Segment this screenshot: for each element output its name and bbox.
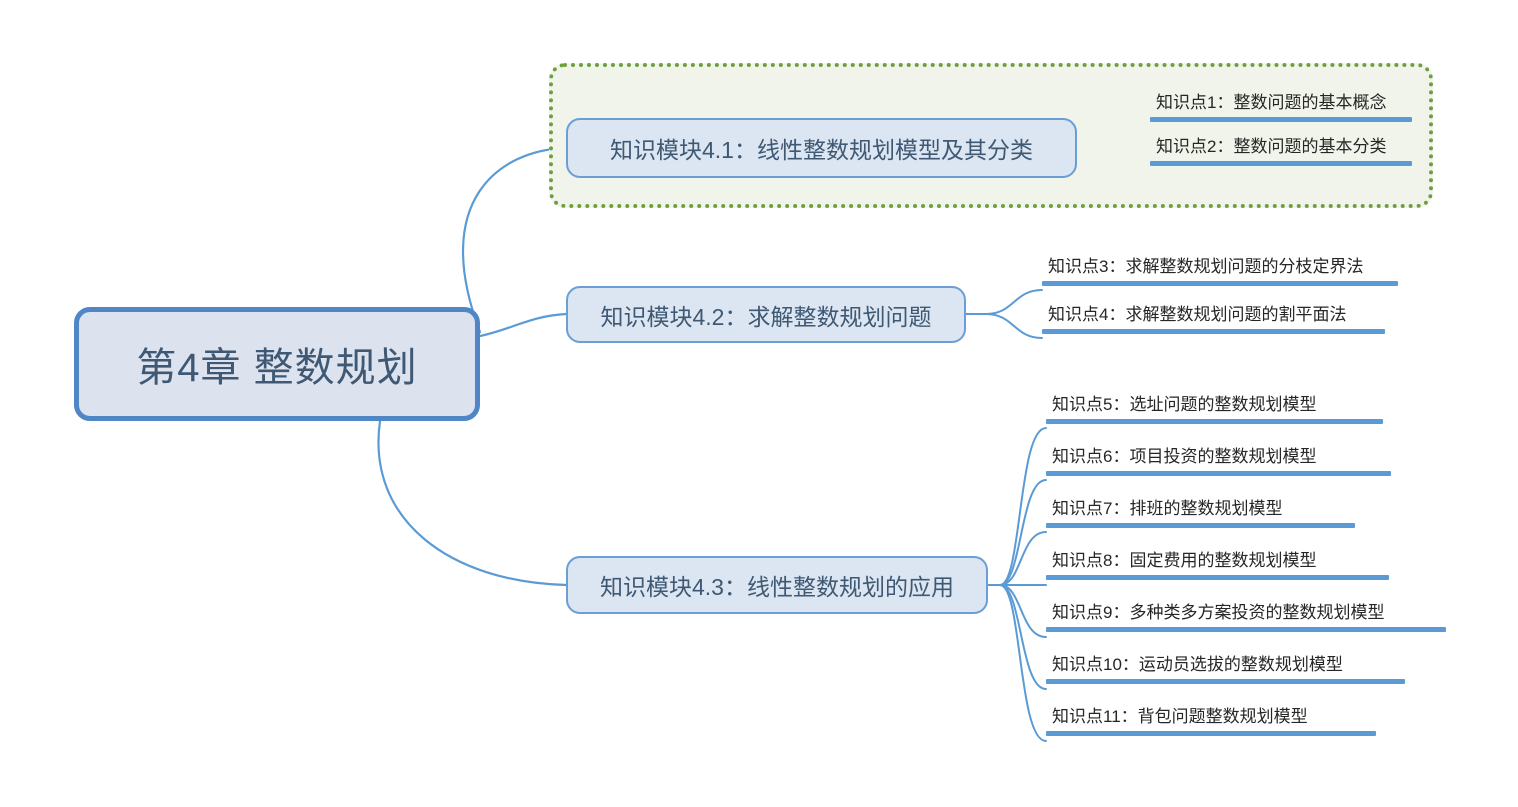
leaf-node-4-label: 知识点4：求解整数规划问题的割平面法 xyxy=(1042,304,1385,329)
module-node-1[interactable]: 知识模块4.1：线性整数规划模型及其分类 xyxy=(566,118,1077,178)
connector-module3-leaf-9 xyxy=(1000,585,1046,637)
leaf-node-6-underline xyxy=(1046,471,1391,476)
leaf-node-9-underline xyxy=(1046,627,1446,632)
root-node[interactable]: 第4章 整数规划 xyxy=(74,307,480,421)
leaf-node-6-label: 知识点6：项目投资的整数规划模型 xyxy=(1046,446,1391,471)
leaf-node-6[interactable]: 知识点6：项目投资的整数规划模型 xyxy=(1046,446,1391,476)
leaf-node-8-underline xyxy=(1046,575,1389,580)
leaf-node-10[interactable]: 知识点10：运动员选拔的整数规划模型 xyxy=(1046,654,1405,684)
connector-module2-leaf-4 xyxy=(986,314,1042,338)
leaf-node-7-label: 知识点7：排班的整数规划模型 xyxy=(1046,498,1355,523)
module-node-1-label: 知识模块4.1：线性整数规划模型及其分类 xyxy=(610,131,1033,165)
leaf-node-3-underline xyxy=(1042,281,1398,286)
connector-root-module-2 xyxy=(480,314,566,336)
leaf-node-7[interactable]: 知识点7：排班的整数规划模型 xyxy=(1046,498,1355,528)
leaf-node-2-label: 知识点2：整数问题的基本分类 xyxy=(1150,136,1412,161)
mindmap-canvas: 第4章 整数规划 知识模块4.1：线性整数规划模型及其分类 知识点1：整数问题的… xyxy=(0,0,1518,807)
leaf-node-7-underline xyxy=(1046,523,1355,528)
leaf-node-11-underline xyxy=(1046,731,1376,736)
leaf-node-2-underline xyxy=(1150,161,1412,166)
leaf-node-8-label: 知识点8：固定费用的整数规划模型 xyxy=(1046,550,1389,575)
leaf-node-10-underline xyxy=(1046,679,1405,684)
connector-root-module-3 xyxy=(378,421,566,585)
leaf-node-11-label: 知识点11：背包问题整数规划模型 xyxy=(1046,706,1376,731)
leaf-node-3-label: 知识点3：求解整数规划问题的分枝定界法 xyxy=(1042,256,1398,281)
module-node-2-label: 知识模块4.2：求解整数规划问题 xyxy=(601,298,932,332)
connector-module3-leaf-7 xyxy=(1000,532,1046,585)
leaf-node-8[interactable]: 知识点8：固定费用的整数规划模型 xyxy=(1046,550,1389,580)
leaf-node-3[interactable]: 知识点3：求解整数规划问题的分枝定界法 xyxy=(1042,256,1398,286)
leaf-node-1[interactable]: 知识点1：整数问题的基本概念 xyxy=(1150,92,1412,122)
root-node-label: 第4章 整数规划 xyxy=(136,335,417,393)
leaf-node-9-label: 知识点9：多种类多方案投资的整数规划模型 xyxy=(1046,602,1446,627)
leaf-node-9[interactable]: 知识点9：多种类多方案投资的整数规划模型 xyxy=(1046,602,1446,632)
connector-module3-leaf-6 xyxy=(1000,480,1046,585)
connector-module3-leaf-10 xyxy=(1000,585,1046,689)
leaf-node-5-label: 知识点5：选址问题的整数规划模型 xyxy=(1046,394,1383,419)
leaf-node-11[interactable]: 知识点11：背包问题整数规划模型 xyxy=(1046,706,1376,736)
leaf-node-4-underline xyxy=(1042,329,1385,334)
connector-module3-leaf-11 xyxy=(1000,585,1046,741)
leaf-node-1-underline xyxy=(1150,117,1412,122)
leaf-node-10-label: 知识点10：运动员选拔的整数规划模型 xyxy=(1046,654,1405,679)
leaf-node-5[interactable]: 知识点5：选址问题的整数规划模型 xyxy=(1046,394,1383,424)
connector-module3-leaf-5 xyxy=(988,428,1046,585)
module-node-3-label: 知识模块4.3：线性整数规划的应用 xyxy=(600,568,954,602)
leaf-node-1-label: 知识点1：整数问题的基本概念 xyxy=(1150,92,1412,117)
leaf-node-2[interactable]: 知识点2：整数问题的基本分类 xyxy=(1150,136,1412,166)
leaf-node-5-underline xyxy=(1046,419,1383,424)
module-node-2[interactable]: 知识模块4.2：求解整数规划问题 xyxy=(566,286,966,343)
leaf-node-4[interactable]: 知识点4：求解整数规划问题的割平面法 xyxy=(1042,304,1385,334)
connector-module2-leaf-3 xyxy=(966,290,1042,314)
module-node-3[interactable]: 知识模块4.3：线性整数规划的应用 xyxy=(566,556,988,614)
